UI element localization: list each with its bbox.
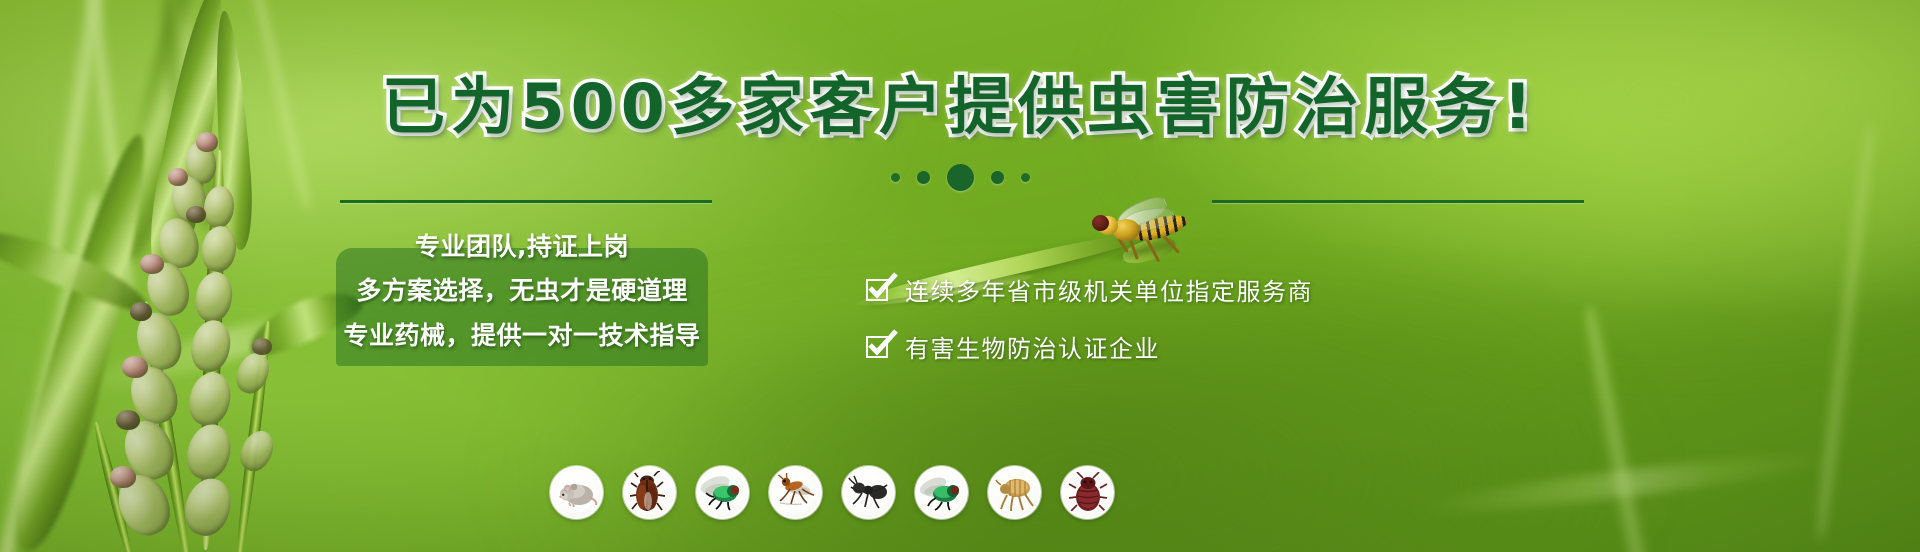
bedbug-icon[interactable]: 臭虫: [1061, 466, 1114, 519]
feature-line-3: 专业药械，提供一对一技术指导: [343, 316, 700, 352]
credentials-list: 连续多年省市级机关单位指定服务商 有害生物防治认证企业: [866, 272, 1386, 386]
decor-dot-large-center: [947, 164, 974, 191]
credential-item-2: 有害生物防治认证企业: [866, 329, 1386, 364]
checkbox-checked-icon: [866, 334, 891, 359]
page-title: 已为500多家客户提供虫害防治服务!: [0, 76, 1920, 138]
housefly-icon[interactable]: 苍蝇: [915, 466, 968, 519]
credential-label-2: 有害生物防治认证企业: [905, 329, 1160, 364]
checkbox-checked-icon: [866, 277, 891, 302]
ant-icon[interactable]: 蚂蚁: [842, 466, 895, 519]
decor-dot-medium-left: [917, 171, 930, 184]
decorative-dots: [0, 160, 1920, 194]
bottle-fly-icon[interactable]: 绿头苍蝇: [696, 466, 749, 519]
mouse-icon[interactable]: 鼠: [550, 466, 603, 519]
decor-dot-small-right: [1021, 173, 1030, 182]
credential-item-1: 连续多年省市级机关单位指定服务商: [866, 272, 1386, 307]
pest-icon-row: 鼠 蟑螂: [550, 466, 1114, 519]
flea-icon[interactable]: 跳蚤: [988, 466, 1041, 519]
feature-line-1: 专业团队,持证上岗: [415, 227, 629, 263]
decorative-rule-left: [340, 200, 712, 203]
credential-label-1: 连续多年省市级机关单位指定服务商: [905, 272, 1313, 307]
decorative-rule-right: [1212, 200, 1584, 203]
cockroach-icon[interactable]: 蟑螂: [623, 466, 676, 519]
feature-list: 专业团队,持证上岗 多方案选择，无虫才是硬道理 专业药械，提供一对一技术指导: [336, 214, 708, 366]
decor-dot-medium-right: [991, 171, 1004, 184]
decor-dot-small-left: [891, 173, 900, 182]
feature-line-2: 多方案选择，无虫才是硬道理: [356, 271, 688, 307]
mosquito-icon[interactable]: 蚊: [769, 466, 822, 519]
promo-banner: 已为500多家客户提供虫害防治服务! 已为500多家客户提供虫害防治服务! 专业…: [0, 0, 1920, 552]
